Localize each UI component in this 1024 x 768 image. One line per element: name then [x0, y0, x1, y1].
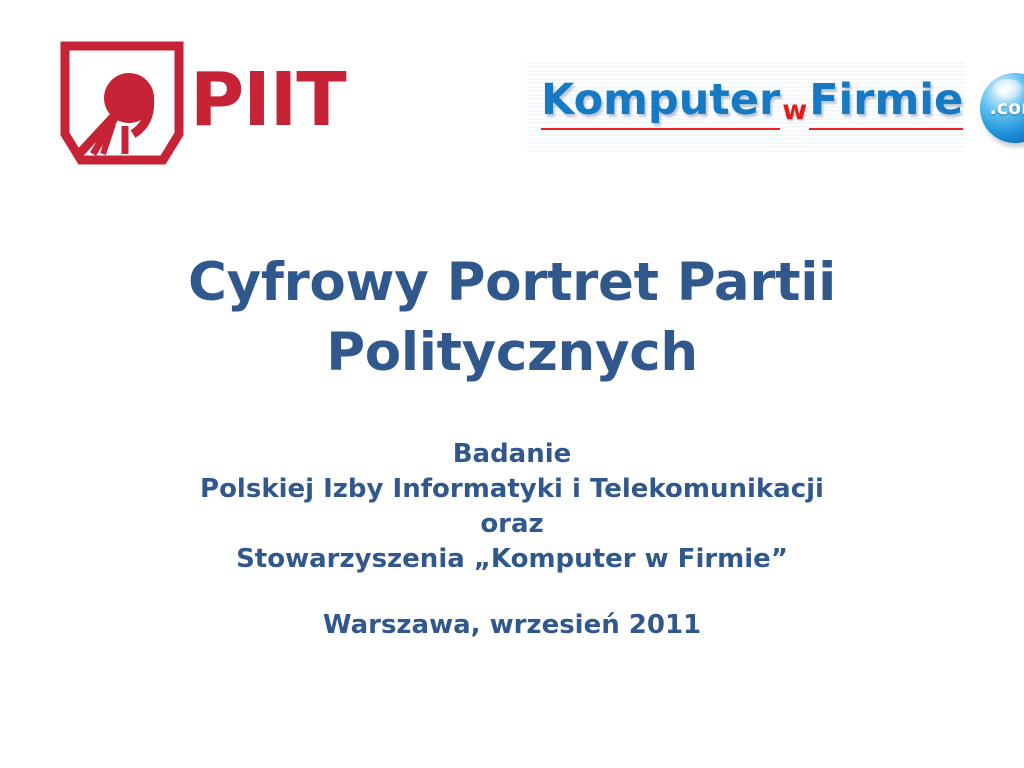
kwf-word-firmie: Firmie	[809, 77, 963, 123]
title-slide: PIIT Komputer w Firmie .com Cyfrowy Port…	[0, 0, 1024, 768]
slide-title-block: Cyfrowy Portret Partii Politycznych	[112, 248, 912, 388]
komputer-w-firmie-wordmark: Komputer w Firmie	[541, 77, 963, 139]
piit-square-antenna-icon	[57, 38, 187, 168]
subtitle-line-2: Polskiej Izby Informatyki i Telekomunika…	[112, 472, 912, 507]
piit-logo: PIIT	[57, 38, 347, 168]
slide-title-line-2: Politycznych	[112, 318, 912, 388]
subtitle-spacer	[112, 577, 912, 608]
komputer-w-firmie-logo: Komputer w Firmie .com	[527, 62, 965, 154]
subtitle-line-3: oraz	[112, 507, 912, 542]
dotcom-sphere-icon: .com	[980, 73, 1024, 143]
slide-date-line: Warszawa, wrzesień 2011	[112, 608, 912, 643]
kwf-word-komputer: Komputer	[541, 77, 780, 123]
dotcom-label: .com	[990, 97, 1024, 119]
piit-wordmark-label: PIIT	[190, 60, 350, 140]
subtitle-line-1: Badanie	[112, 437, 912, 472]
subtitle-line-4: Stowarzyszenia „Komputer w Firmie”	[112, 542, 912, 577]
kwf-word-w: w	[782, 97, 807, 125]
slide-subtitle-block: Badanie Polskiej Izby Informatyki i Tele…	[112, 437, 912, 643]
piit-wordmark: PIIT	[190, 60, 350, 142]
slide-title-line-1: Cyfrowy Portret Partii	[112, 248, 912, 318]
